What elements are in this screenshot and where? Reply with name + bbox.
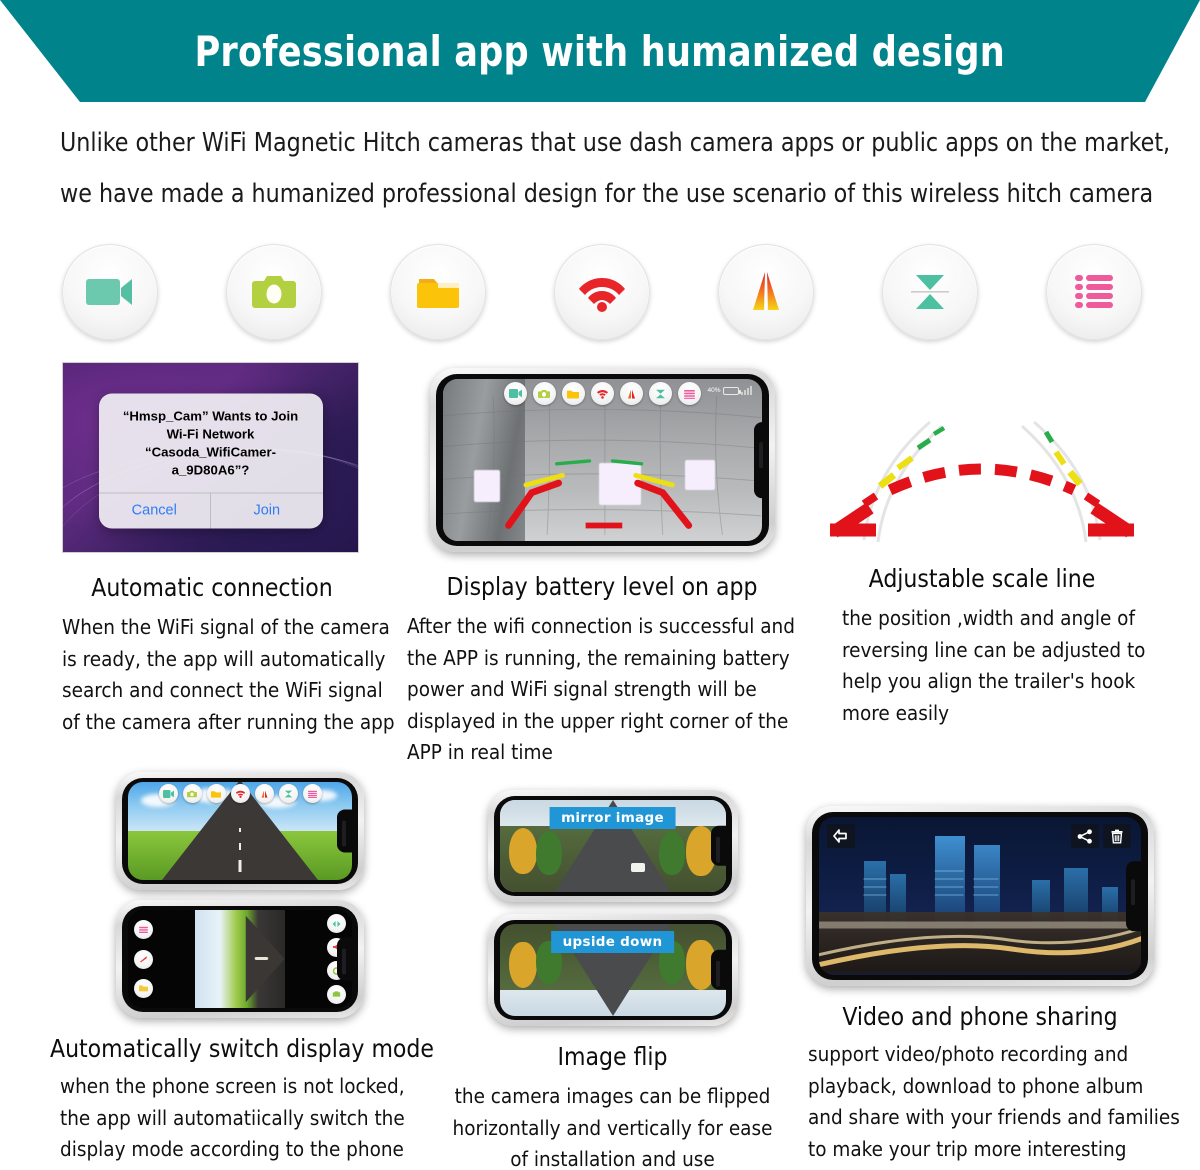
battery-percent-label: 40% [707, 387, 720, 394]
rotated-camera-strip [195, 910, 285, 1008]
dialog-line-4: a_9D80A6”? [111, 462, 311, 480]
panel-image-flip: mirror image [440, 790, 785, 1170]
body-line: the position ,width and angle of [842, 603, 1152, 635]
video-record-icon-button[interactable] [62, 244, 158, 340]
panel-body: support video/photo recording and playba… [800, 1039, 1160, 1165]
body-line: direction [60, 1166, 430, 1170]
share-icon [1077, 829, 1093, 844]
body-line: when the phone screen is not locked, [60, 1071, 430, 1103]
dialog-line-3: “Casoda_WifiCamer- [111, 444, 311, 462]
body-line: When the WiFi signal of the camera [62, 612, 362, 644]
photo-camera-icon-button[interactable] [226, 244, 322, 340]
body-line: horizontally and vertically for ease [440, 1113, 785, 1145]
header-banner: Professional app with humanized design [0, 0, 1200, 102]
panel-body: When the WiFi signal of the camera is re… [62, 612, 362, 738]
orientation-phones [50, 772, 430, 1018]
phone-frame-mirror: mirror image [488, 790, 738, 902]
trash-icon-button[interactable] [1103, 824, 1131, 848]
mirror-image-label: mirror image [549, 807, 676, 829]
video-record-icon-button[interactable] [504, 382, 527, 405]
page-title: Professional app with humanized design [195, 27, 1005, 76]
panel-title: Adjustable scale line [812, 564, 1152, 593]
back-arrow-icon-button[interactable] [827, 824, 855, 848]
folder-icon [416, 273, 460, 311]
phone-frame-portrait-mode [116, 900, 364, 1018]
wifi-icon-button[interactable] [554, 244, 650, 340]
landscape-mode-screen[interactable] [128, 782, 352, 880]
trash-icon [1110, 829, 1124, 844]
phone-side-notch [711, 826, 726, 866]
intro-paragraph: Unlike other WiFi Magnetic Hitch cameras… [60, 118, 1145, 220]
scale-line-icon [743, 270, 789, 314]
portrait-mode-screen[interactable] [128, 910, 352, 1008]
scale-line-icon-button[interactable] [134, 950, 153, 969]
battery-icon [723, 387, 739, 395]
upside-down-label: upside down [551, 931, 675, 953]
body-line: support video/photo recording and [808, 1039, 1160, 1071]
ios-wifi-dialog-screenshot: “Hmsp_Cam” Wants to Join Wi-Fi Network “… [62, 362, 362, 553]
panel-title: Automatically switch display mode [50, 1034, 430, 1063]
menu-list-icon-button[interactable] [1046, 244, 1142, 340]
panel-body: when the phone screen is not locked, the… [50, 1071, 430, 1170]
dialog-line-1: “Hmsp_Cam” Wants to Join [111, 408, 311, 426]
body-line: and share with your friends and families [808, 1102, 1160, 1134]
photo-camera-icon [250, 273, 298, 311]
app-toolbar [128, 784, 352, 803]
app-live-view-screen[interactable]: 40% [443, 379, 762, 541]
dialog-line-2: Wi-Fi Network [111, 426, 311, 444]
phone-side-notch [754, 422, 769, 498]
phone-side-notch [711, 950, 726, 990]
intro-line-1: Unlike other WiFi Magnetic Hitch cameras… [60, 118, 1112, 169]
panel-title: Video and phone sharing [800, 1002, 1160, 1031]
folder-icon-button[interactable] [562, 382, 585, 405]
body-line: more easily [842, 698, 1152, 730]
panel-body: the camera images can be flipped horizon… [440, 1081, 785, 1170]
phone-side-notch [1126, 861, 1141, 931]
panel-adjustable-scale-line: Adjustable scale line the position ,widt… [812, 380, 1152, 729]
photo-camera-icon-button[interactable] [533, 382, 556, 405]
snapshot-icon-button[interactable] [327, 985, 346, 1004]
menu-list-icon [1071, 272, 1117, 312]
photo-camera-icon-button[interactable] [183, 784, 202, 803]
wifi-dialog-message: “Hmsp_Cam” Wants to Join Wi-Fi Network “… [99, 394, 323, 493]
phone-frame: 40% [430, 368, 775, 552]
phone-city-playback [800, 806, 1160, 986]
body-line: the app will automatiically switch the [60, 1103, 430, 1135]
body-line: search and connect the WiFi signal [62, 675, 362, 707]
body-line: the camera images can be flipped [440, 1081, 785, 1113]
feature-icon-strip [62, 242, 1142, 342]
folder-icon-button[interactable] [207, 784, 226, 803]
phone-frame-playback [806, 806, 1154, 986]
join-button[interactable]: Join [210, 494, 323, 529]
image-flip-icon-button[interactable] [279, 784, 298, 803]
image-flip-icon [907, 270, 953, 314]
infographic-page: Professional app with humanized design U… [0, 0, 1200, 1170]
panel-video-and-phone-sharing: Video and phone sharing support video/ph… [800, 806, 1160, 1165]
body-line: After the wifi connection is successful … [407, 611, 797, 643]
folder-icon-button[interactable] [134, 979, 153, 998]
reversing-guide-illustration [812, 380, 1152, 552]
body-line: display mode according to the phone [60, 1134, 430, 1166]
body-line: displayed in the upper right corner of t… [407, 706, 797, 738]
scale-line-icon-button[interactable] [718, 244, 814, 340]
panel-display-battery-level: 40% Display battery level on app After t… [407, 368, 797, 769]
body-line: APP in real time [407, 737, 797, 769]
phone-garage-preview: 40% [407, 368, 797, 552]
panel-body: After the wifi connection is successful … [407, 611, 797, 769]
cancel-button[interactable]: Cancel [99, 494, 211, 529]
body-line: to make your trip more interesting [808, 1134, 1160, 1166]
back-arrow-icon [833, 829, 850, 843]
panel-auto-switch-display-mode: Automatically switch display mode when t… [50, 772, 430, 1170]
panel-automatic-connection: “Hmsp_Cam” Wants to Join Wi-Fi Network “… [62, 362, 362, 738]
share-icon-button[interactable] [1071, 824, 1099, 848]
wifi-join-dialog: “Hmsp_Cam” Wants to Join Wi-Fi Network “… [99, 394, 323, 529]
image-flip-icon-button[interactable] [327, 914, 346, 933]
video-record-icon [84, 275, 136, 309]
wifi-icon-button[interactable] [231, 784, 250, 803]
scale-line-icon-button[interactable] [255, 784, 274, 803]
body-line: of the camera after running the app [62, 707, 362, 739]
video-record-icon-button[interactable] [159, 784, 178, 803]
panel-title: Image flip [440, 1042, 785, 1071]
menu-list-icon-button[interactable] [134, 920, 153, 939]
image-flip-icon-button[interactable] [649, 382, 672, 405]
playback-screen[interactable] [819, 817, 1141, 975]
menu-list-icon-button[interactable] [303, 784, 322, 803]
body-line: of installation and use [440, 1144, 785, 1170]
flip-phones: mirror image [440, 790, 785, 1026]
upside-down-screen[interactable]: upside down [500, 924, 726, 1016]
dashed-distance-line [890, 469, 1074, 490]
status-indicators: 40% [707, 386, 751, 395]
body-line: is ready, the app will automatically [62, 644, 362, 676]
left-control-column [134, 910, 153, 1008]
intro-line-2: we have made a humanized professional de… [60, 169, 1112, 220]
body-line: the APP is running, the remaining batter… [407, 643, 797, 675]
vehicle [631, 863, 645, 872]
panel-title: Automatic connection [62, 573, 362, 602]
scale-line-diagram [812, 380, 1152, 552]
body-line: power and WiFi signal strength will be [407, 674, 797, 706]
panel-title: Display battery level on app [407, 572, 797, 601]
image-flip-icon-button[interactable] [882, 244, 978, 340]
phone-frame-upside-down: upside down [488, 914, 738, 1026]
scale-line-icon-button[interactable] [620, 382, 643, 405]
wifi-icon [577, 270, 627, 314]
body-line: help you align the trailer's hook [842, 666, 1152, 698]
phone-side-notch [337, 937, 352, 980]
menu-list-icon-button[interactable] [678, 382, 701, 405]
wifi-dialog-actions: Cancel Join [99, 493, 323, 529]
wifi-icon-button[interactable] [591, 382, 614, 405]
phone-frame-landscape [116, 772, 364, 890]
body-line: playback, download to phone album [808, 1071, 1160, 1103]
wifi-signal-bars-icon [741, 386, 752, 395]
folder-icon-button[interactable] [390, 244, 486, 340]
phone-side-notch [337, 809, 352, 852]
mirror-image-screen[interactable]: mirror image [500, 800, 726, 892]
panel-body: the position ,width and angle of reversi… [812, 603, 1152, 729]
body-line: reversing line can be adjusted to [842, 635, 1152, 667]
